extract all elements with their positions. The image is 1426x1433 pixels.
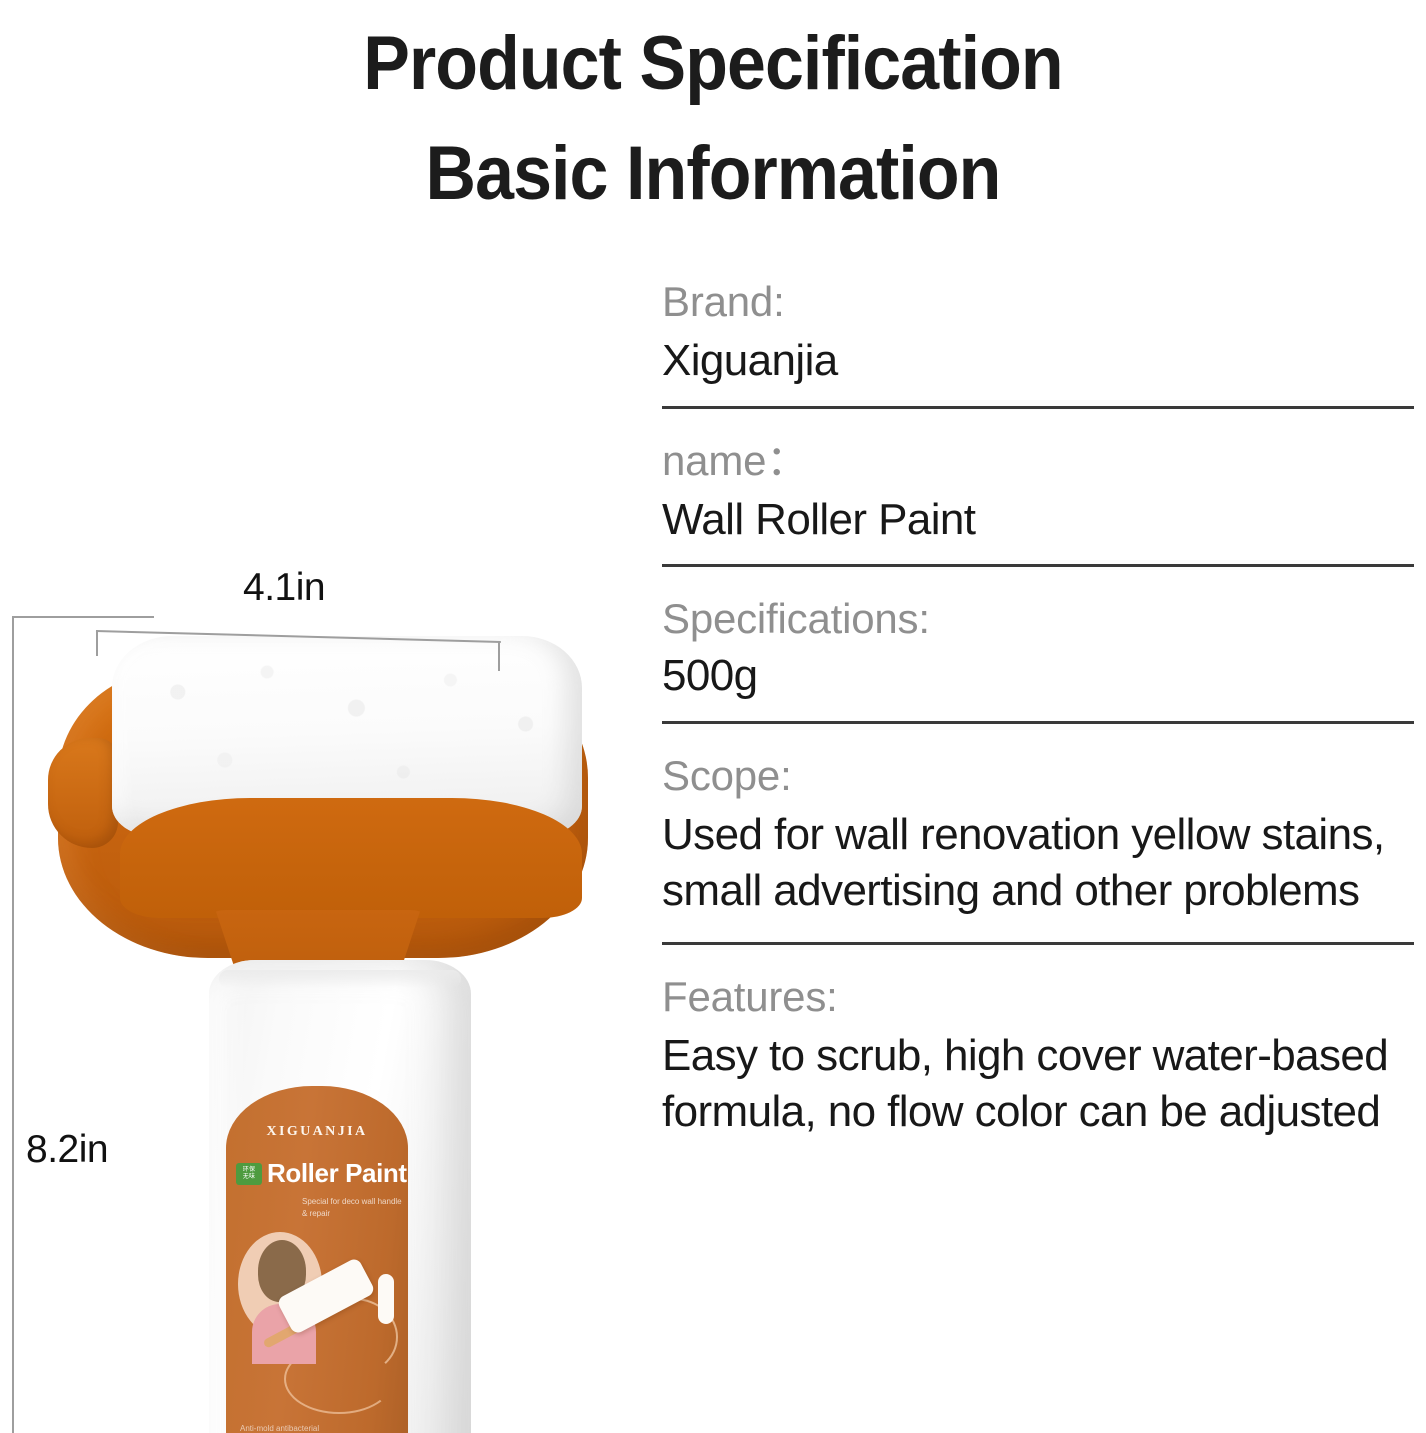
roller-housing-lip	[120, 798, 582, 918]
spec-value-scope: Used for wall renovation yellow stains, …	[662, 807, 1414, 920]
spec-key-scope: Scope:	[662, 750, 1414, 801]
dimension-bracket-left-tick-top	[12, 616, 154, 618]
dimension-label-width: 4.1in	[243, 566, 325, 610]
spec-key-name: name：	[662, 435, 1414, 486]
product-image-area: XIGUANJIA 环保 无味 Roller Paint Special for…	[0, 270, 640, 1433]
title-line-1: Product Specification	[57, 6, 1369, 122]
dimension-bracket-top-tick-right	[498, 641, 500, 671]
dimension-bracket-left	[12, 616, 14, 1433]
specification-list: Brand: Xiguanjia name： Wall Roller Paint…	[662, 276, 1414, 1140]
label-eco-badge: 环保 无味	[236, 1163, 262, 1185]
dimension-label-height: 8.2in	[26, 1128, 108, 1172]
spec-row-specifications: Specifications: 500g	[662, 593, 1414, 724]
spec-key-specifications: Specifications:	[662, 593, 1414, 644]
label-title-row: 环保 无味 Roller Paint	[236, 1158, 407, 1189]
spec-value-specifications: 500g	[662, 648, 1414, 704]
label-illustration	[232, 1226, 404, 1416]
spec-divider-2	[662, 564, 1414, 567]
dimension-bracket-top-tick-left	[96, 630, 98, 656]
spec-divider-3	[662, 721, 1414, 724]
label-tagline: Special for deco wall handle & repair	[302, 1196, 402, 1220]
spec-row-brand: Brand: Xiguanjia	[662, 276, 1414, 409]
roller-housing-nub	[48, 738, 118, 848]
spec-divider-1	[662, 406, 1414, 409]
label-bullet-1: Anti-mold antibacterial	[240, 1422, 360, 1433]
spec-divider-4	[662, 942, 1414, 945]
spec-row-name: name： Wall Roller Paint	[662, 435, 1414, 568]
product-specification-page: Product Specification Basic Information …	[0, 0, 1426, 1433]
bottle-label: XIGUANJIA 环保 无味 Roller Paint Special for…	[226, 1086, 408, 1433]
title-line-2: Basic Information	[57, 116, 1369, 232]
spec-value-features: Easy to scrub, high cover water-based fo…	[662, 1028, 1414, 1141]
label-bullet-list: Anti-mold antibacterial High covering po…	[240, 1422, 360, 1433]
label-side-pill	[378, 1274, 394, 1324]
page-title: Product Specification Basic Information	[0, 6, 1426, 231]
spec-value-name: Wall Roller Paint	[662, 492, 1414, 548]
roller-paint-tool-illustration: XIGUANJIA 环保 无味 Roller Paint Special for…	[0, 270, 640, 1433]
label-product-title: Roller Paint	[267, 1158, 407, 1189]
label-badge-line-2: 无味	[243, 1174, 255, 1180]
spec-key-features: Features:	[662, 971, 1414, 1022]
spec-row-features: Features: Easy to scrub, high cover wate…	[662, 971, 1414, 1141]
spec-row-scope: Scope: Used for wall renovation yellow s…	[662, 750, 1414, 945]
spec-value-brand: Xiguanjia	[662, 333, 1414, 389]
spec-key-brand: Brand:	[662, 276, 1414, 327]
bottle-shoulder-highlight	[219, 970, 461, 988]
label-brand-text: XIGUANJIA	[226, 1124, 408, 1140]
